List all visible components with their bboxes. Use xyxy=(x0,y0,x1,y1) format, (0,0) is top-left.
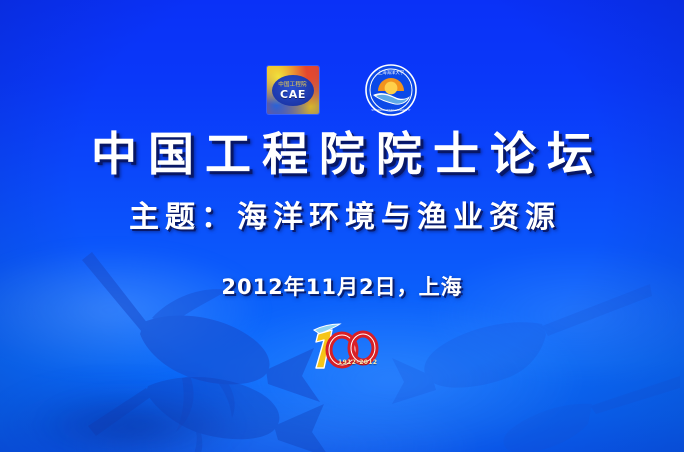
centenary-years: 1912-2012 xyxy=(338,359,378,366)
banner-dateline: 2012年11月2日，上海 xyxy=(0,277,684,298)
cae-abbreviation: CAE xyxy=(280,89,306,100)
seabed-shadow xyxy=(40,395,240,452)
cae-emblem-icon: 中国工程院 CAE xyxy=(272,75,314,106)
marlin-icon xyxy=(480,372,680,452)
cae-logo: 中国工程院 CAE xyxy=(267,66,319,114)
light-caustic xyxy=(430,250,684,380)
light-caustic xyxy=(200,300,580,452)
centenary-logo: 1912-2012 xyxy=(296,318,388,384)
light-caustic xyxy=(0,250,260,370)
svg-text:SHANGHAI OCEAN UNIVERSITY: SHANGHAI OCEAN UNIVERSITY xyxy=(371,109,410,112)
banner-subtitle: 主题：海洋环境与渔业资源 xyxy=(0,203,684,233)
university-seal-icon: 上海海洋大学 SHANGHAI OCEAN UNIVERSITY xyxy=(365,64,417,116)
page-title: 中国工程院院士论坛 xyxy=(0,131,684,177)
light-caustic xyxy=(60,390,480,452)
conference-banner: 中国工程院 CAE 上海海洋大学 SHANGHAI OCEAN UNIVERSI… xyxy=(0,0,684,452)
logo-row: 中国工程院 CAE 上海海洋大学 SHANGHAI OCEAN UNIVERSI… xyxy=(0,64,684,116)
svg-text:上海海洋大学: 上海海洋大学 xyxy=(378,69,405,76)
marlin-icon xyxy=(392,284,652,404)
seabed-shadow xyxy=(0,380,250,452)
shanghai-ocean-university-logo: 上海海洋大学 SHANGHAI OCEAN UNIVERSITY xyxy=(365,64,417,116)
centenary-100-icon xyxy=(296,318,388,384)
cae-chinese-label: 中国工程院 xyxy=(279,82,308,88)
